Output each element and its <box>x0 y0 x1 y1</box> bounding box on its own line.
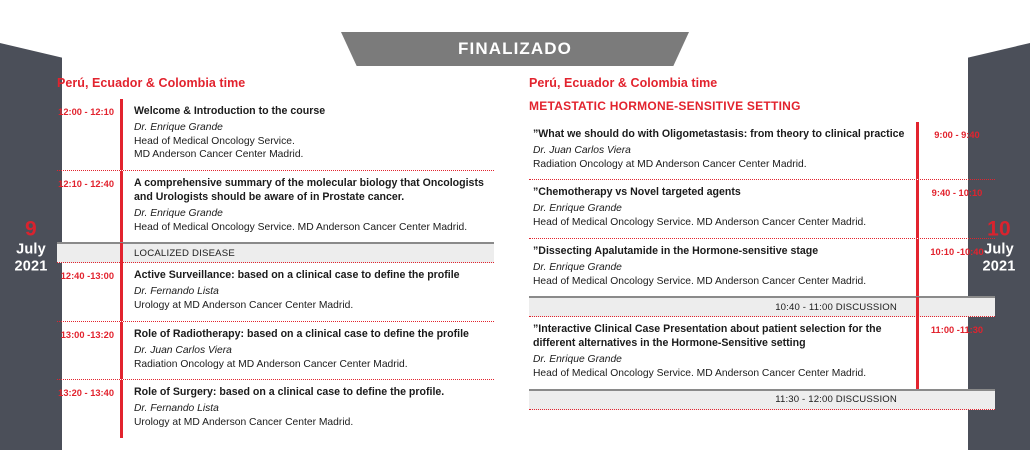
session-time: 9:00 - 9:40 <box>919 122 995 179</box>
session-row: ”What we should do with Oligometastasis:… <box>529 122 995 179</box>
session-content: Active Surveillance: based on a clinical… <box>123 263 494 320</box>
session-time: 13:20 - 13:40 <box>57 380 114 437</box>
session-time: 12:10 - 12:40 <box>57 171 114 242</box>
session-title: Role of Surgery: based on a clinical cas… <box>134 386 494 400</box>
session-speaker: Dr. Juan Carlos Viera <box>533 144 905 158</box>
discussion-band-label: 10:40 - 11:00 DISCUSSION <box>775 302 995 313</box>
status-banner-label: FINALIZADO <box>458 39 572 59</box>
discussion-band-rule <box>916 297 919 317</box>
session-row: ”Dissecting Apalutamide in the Hormone-s… <box>529 238 995 296</box>
session-row: 13:00 -13:20 Role of Radiotherapy: based… <box>57 321 494 379</box>
session-time: 12:40 -13:00 <box>57 263 114 320</box>
timezone-header-day2: Perú, Ecuador & Colombia time <box>529 76 995 90</box>
session-content: ”Interactive Clinical Case Presentation … <box>529 317 916 388</box>
session-list-day1-part1: 12:00 - 12:10 Welcome & Introduction to … <box>57 99 494 242</box>
session-title: ”Interactive Clinical Case Presentation … <box>533 323 905 351</box>
session-content: ”Chemotherapy vs Novel targeted agents D… <box>529 180 916 237</box>
session-affiliation: Radiation Oncology at MD Anderson Cancer… <box>134 358 494 372</box>
timezone-header-day1: Perú, Ecuador & Colombia time <box>57 76 494 90</box>
session-row: ”Chemotherapy vs Novel targeted agents D… <box>529 179 995 237</box>
session-content: A comprehensive summary of the molecular… <box>123 171 494 242</box>
session-title: ”What we should do with Oligometastasis:… <box>533 128 905 142</box>
agenda-column-day1: Perú, Ecuador & Colombia time 12:00 - 12… <box>57 76 494 438</box>
session-time: 11:00 -11:30 <box>919 317 995 388</box>
session-speaker: Dr. Enrique Grande <box>134 207 494 221</box>
session-row: ”Interactive Clinical Case Presentation … <box>529 317 995 388</box>
session-speaker: Dr. Juan Carlos Viera <box>134 344 494 358</box>
session-title: Active Surveillance: based on a clinical… <box>134 269 494 283</box>
session-time: 9:40 - 10:10 <box>919 180 995 237</box>
session-time: 10:10 -10:40 <box>919 239 995 296</box>
agenda-page: 9 July 2021 10 July 2021 FINALIZADO Perú… <box>0 0 1030 450</box>
session-title: ”Chemotherapy vs Novel targeted agents <box>533 186 905 200</box>
session-content: Role of Radiotherapy: based on a clinica… <box>123 322 494 379</box>
session-row: 12:00 - 12:10 Welcome & Introduction to … <box>57 99 494 170</box>
agenda-column-day2: Perú, Ecuador & Colombia time METASTATIC… <box>529 76 995 410</box>
session-row: 12:40 -13:00 Active Surveillance: based … <box>57 263 494 320</box>
date-month-day1: July <box>0 242 62 259</box>
session-affiliation: Head of Medical Oncology Service. MD And… <box>134 221 494 235</box>
session-list-day1-part2: 12:40 -13:00 Active Surveillance: based … <box>57 263 494 437</box>
session-affiliation: Head of Medical Oncology Service.MD Ande… <box>134 135 494 162</box>
date-year-day1: 2021 <box>0 259 62 276</box>
session-row: 12:10 - 12:40 A comprehensive summary of… <box>57 170 494 242</box>
section-band-localized-disease: LOCALIZED DISEASE <box>57 242 494 263</box>
date-day-day1: 9 <box>0 217 62 242</box>
date-panel-day1: 9 July 2021 <box>0 43 62 450</box>
status-banner: FINALIZADO <box>341 32 689 66</box>
session-affiliation: Radiation Oncology at MD Anderson Cancer… <box>533 158 905 172</box>
discussion-band-1: 10:40 - 11:00 DISCUSSION <box>529 296 995 317</box>
session-time: 12:00 - 12:10 <box>57 99 114 170</box>
session-list-day2-part1: ”What we should do with Oligometastasis:… <box>529 122 995 296</box>
session-speaker: Dr. Enrique Grande <box>533 353 905 367</box>
session-content: Welcome & Introduction to the course Dr.… <box>123 99 494 170</box>
session-title: Role of Radiotherapy: based on a clinica… <box>134 328 494 342</box>
session-affiliation: Head of Medical Oncology Service. MD And… <box>533 275 905 289</box>
session-content: Role of Surgery: based on a clinical cas… <box>123 380 494 437</box>
session-speaker: Dr. Fernando Lista <box>134 402 494 416</box>
session-affiliation: Head of Medical Oncology Service. MD And… <box>533 216 905 230</box>
session-affiliation: Urology at MD Anderson Cancer Center Mad… <box>134 416 494 430</box>
date-panel-day1-inner: 9 July 2021 <box>0 217 62 276</box>
session-speaker: Dr. Enrique Grande <box>134 121 494 135</box>
session-content: ”What we should do with Oligometastasis:… <box>529 122 916 179</box>
session-time: 13:00 -13:20 <box>57 322 114 379</box>
discussion-band-label: 11:30 - 12:00 DISCUSSION <box>775 394 995 405</box>
session-affiliation: Head of Medical Oncology Service. MD And… <box>533 367 905 381</box>
session-speaker: Dr. Enrique Grande <box>533 261 905 275</box>
session-content: ”Dissecting Apalutamide in the Hormone-s… <box>529 239 916 296</box>
session-row: 13:20 - 13:40 Role of Surgery: based on … <box>57 379 494 437</box>
session-speaker: Dr. Enrique Grande <box>533 202 905 216</box>
setting-subheader: METASTATIC HORMONE-SENSITIVE SETTING <box>529 99 995 113</box>
session-title: A comprehensive summary of the molecular… <box>134 177 494 205</box>
session-list-day2-part2: ”Interactive Clinical Case Presentation … <box>529 317 995 388</box>
session-speaker: Dr. Fernando Lista <box>134 285 494 299</box>
section-band-rule <box>120 243 123 263</box>
session-title: ”Dissecting Apalutamide in the Hormone-s… <box>533 245 905 259</box>
section-band-label: LOCALIZED DISEASE <box>57 248 235 259</box>
session-title: Welcome & Introduction to the course <box>134 105 494 119</box>
session-affiliation: Urology at MD Anderson Cancer Center Mad… <box>134 299 494 313</box>
discussion-band-2: 11:30 - 12:00 DISCUSSION <box>529 389 995 410</box>
